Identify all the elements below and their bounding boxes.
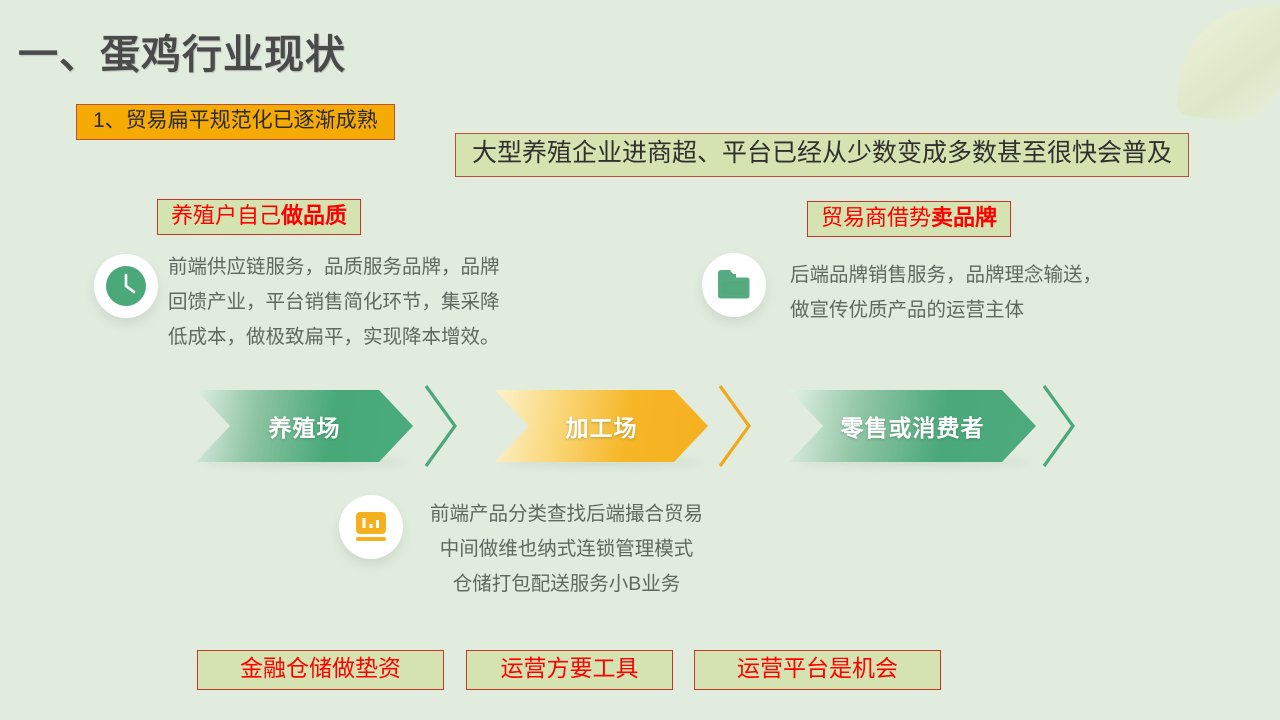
badge-quality-bold: 做品质 [281,203,347,228]
left-line-2: 回馈产业，平台销售简化环节，集采降 [168,285,500,320]
page-title: 一、蛋鸡行业现状 [18,22,346,80]
left-line-1: 前端供应链服务，品质服务品牌，品牌 [168,250,500,285]
right-line-1: 后端品牌销售服务，品牌理念输送， [790,258,1102,293]
badge-brand-bold: 卖品牌 [931,205,997,230]
chevron-separator-icon [716,382,754,470]
slide-canvas: 一、蛋鸡行业现状 1、贸易扁平规范化已逐渐成熟 大型养殖企业进商超、平台已经从少… [0,0,1280,720]
chevron-separator-icon [422,382,460,470]
monitor-chart-icon [339,495,403,559]
bottom-body-text: 前端产品分类查找后端撮合贸易 中间做维也纳式连锁管理模式 仓储打包配送服务小B业… [430,497,703,602]
bottom-badge-tools: 运营方要工具 [466,650,673,690]
chevron-separator-icon [1040,382,1078,470]
process-step-farm[interactable]: 养殖场 [196,390,413,462]
process-step-retail[interactable]: 零售或消费者 [789,390,1036,462]
process-step-processing[interactable]: 加工场 [495,390,708,462]
clock-icon [94,254,158,318]
bottom-line-2: 中间做维也纳式连锁管理模式 [430,532,703,567]
badge-brand-normal: 贸易商借势 [821,205,931,230]
left-line-3: 低成本，做极致扁平，实现降本增效。 [168,320,500,355]
right-body-text: 后端品牌销售服务，品牌理念输送， 做宣传优质产品的运营主体 [790,258,1102,328]
badge-brand: 贸易商借势卖品牌 [807,201,1011,237]
badge-quality: 养殖户自己做品质 [157,199,361,235]
decorative-petal-shape [1174,0,1280,129]
bottom-badge-finance: 金融仓储做垫资 [197,650,444,690]
left-body-text: 前端供应链服务，品质服务品牌，品牌 回馈产业，平台销售简化环节，集采降 低成本，… [168,250,500,355]
bottom-line-1: 前端产品分类查找后端撮合贸易 [430,497,703,532]
bottom-line-3: 仓储打包配送服务小B业务 [430,567,703,602]
right-line-2: 做宣传优质产品的运营主体 [790,293,1102,328]
badge-quality-normal: 养殖户自己 [171,203,281,228]
bottom-badge-platform: 运营平台是机会 [694,650,941,690]
headline-banner: 大型养殖企业进商超、平台已经从少数变成多数甚至很快会普及 [455,133,1189,177]
section-badge: 1、贸易扁平规范化已逐渐成熟 [76,104,395,140]
folder-icon [702,253,766,317]
